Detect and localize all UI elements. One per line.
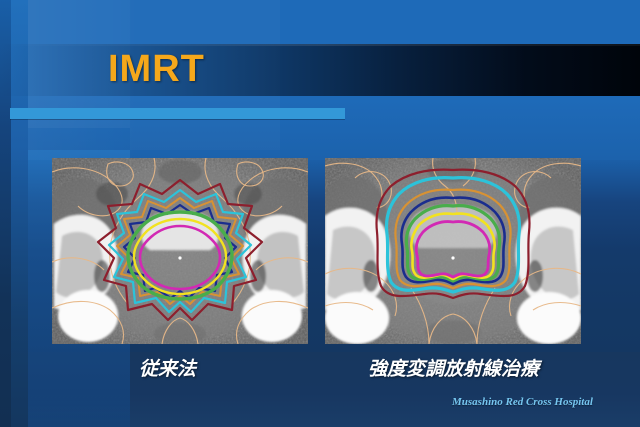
title-backdrop-highlight — [0, 44, 640, 46]
ct-imrt-canvas — [325, 158, 581, 344]
caption-imrt: 強度変調放射線治療 — [368, 354, 539, 381]
ct-image-conventional — [52, 158, 308, 344]
ct-image-imrt — [325, 158, 581, 344]
title-accent-bar — [10, 108, 345, 119]
ct-conventional-canvas — [52, 158, 308, 344]
slide-canvas: IMRT — [0, 0, 640, 427]
title-backdrop-band — [0, 44, 640, 96]
caption-conventional: 従来法 — [139, 354, 196, 381]
page-title: IMRT — [108, 46, 205, 92]
footer-institution: Musashino Red Cross Hospital — [452, 396, 593, 408]
